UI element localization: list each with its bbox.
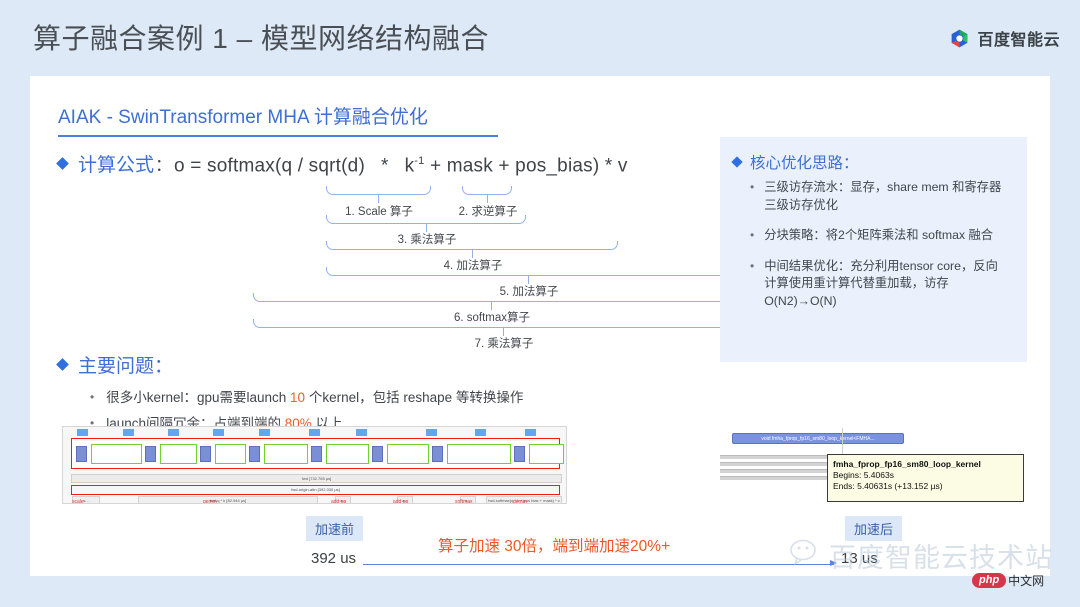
list-item: • 分块策略：将2个矩阵乘法和 softmax 融合 (750, 227, 1027, 245)
comparison-arrow-line (363, 564, 834, 565)
timeline-tick (168, 429, 179, 436)
content-card: AIAK - SwinTransformer MHA 计算融合优化 计算公式 ：… (30, 76, 1050, 576)
kernel-block (514, 446, 525, 462)
php-pill: php (972, 573, 1006, 588)
baidu-hexagon-icon (949, 28, 970, 49)
profiler-fwd-bar: fwd [732.765 µs] (71, 474, 562, 483)
formula-exponent: -1 (414, 155, 424, 167)
kernel-block (76, 446, 87, 462)
formula-part1: o = softmax(q / sqrt(d) (174, 155, 365, 176)
optimization-list: • 三级访存流水：显存，share mem 和寄存器三级访存优化 • 分块策略：… (750, 179, 1027, 310)
page-title: 算子融合案例 1 – 模型网络结构融合 (33, 17, 489, 57)
kernel-block (432, 446, 443, 462)
section-heading-rule (58, 135, 498, 137)
profiler-after-image: void fmha_fprop_fp16_sm80_loop_kernel<FM… (720, 428, 1032, 502)
launch-gap-box (91, 444, 142, 464)
profiler-before-image: fwd [732.765 µs] fwd-origin-attn [392.03… (62, 426, 567, 504)
kernel-block (249, 446, 260, 462)
launch-gap-box (447, 444, 511, 464)
formula-part3: + mask + pos_bias) * v (424, 155, 627, 176)
launch-gap-box (326, 444, 369, 464)
op-label-add-1: add op (331, 499, 346, 504)
launch-gap-box (387, 444, 429, 464)
tooltip-title: fmha_fprop_fp16_sm80_loop_kernel (833, 459, 1018, 469)
bullet-tick-icon: • (750, 258, 754, 311)
diamond-bullet-icon (56, 358, 69, 371)
launch-gap-box (529, 444, 564, 464)
badge-before: 加速前 (306, 516, 363, 541)
operator-label-7: 7. 乘法算子 (475, 335, 534, 351)
list-item: • 中间结果优化：充分利用tensor core，反向计算使用重计算代替重加载，… (750, 258, 1027, 311)
optimization-item-2: 分块策略：将2个矩阵乘法和 softmax 融合 (764, 227, 1002, 245)
optimization-item-1: 三级访存流水：显存，share mem 和寄存器三级访存优化 (764, 179, 1002, 214)
launch-gap-box (160, 444, 197, 464)
formula-row: 计算公式 ： o = softmax(q / sqrt(d)*k-1 + mas… (58, 150, 628, 177)
issue-item-1: 很多小kernel：gpu需要launch 10 个kernel，包括 resh… (106, 388, 523, 407)
slide-root: 算子融合案例 1 – 模型网络结构融合 百度智能云 AIAK - SwinTra… (0, 0, 1080, 607)
kernel-block (311, 446, 322, 462)
launch-gap-box (215, 444, 246, 464)
fused-kernel-bar: void fmha_fprop_fp16_sm80_loop_kernel<FM… (732, 433, 904, 444)
php-logo: php 中文网 (972, 572, 1044, 589)
php-logo-text: 中文网 (1008, 572, 1044, 589)
formula-expression: o = softmax(q / sqrt(d)*k-1 + mask + pos… (174, 155, 628, 177)
speedup-callout: 算子加速 30倍，端到端加速20%+ (438, 534, 670, 556)
wechat-icon (790, 539, 824, 572)
kernel-block (200, 446, 211, 462)
optimization-item-3: 中间结果优化：充分利用tensor core，反向计算使用重计算代替重加载，访存… (764, 258, 1002, 311)
issue-1-highlight: 10 (290, 390, 305, 405)
brand-logo: 百度智能云 (949, 26, 1060, 50)
timeline-tick (77, 429, 88, 436)
diamond-bullet-icon (56, 157, 69, 170)
launch-gap-box (264, 444, 308, 464)
issues-header: 主要问题： (58, 351, 523, 378)
op-label-scale: scale (72, 499, 84, 504)
formula-colon: ： (155, 151, 172, 176)
timeline-tick (356, 429, 367, 436)
timeline-tick (475, 429, 486, 436)
list-item: • 三级访存流水：显存，share mem 和寄存器三级访存优化 (750, 179, 1027, 214)
optimization-panel-title: 核心优化思路： (750, 151, 859, 173)
tooltip-begins: Begins: 5.4063s (833, 470, 1018, 480)
timeline-tick (309, 429, 320, 436)
timeline-tick (123, 429, 134, 436)
section-heading-text: AIAK - SwinTransformer MHA 计算融合优化 (58, 102, 498, 129)
bullet-tick-icon: • (750, 179, 754, 214)
diamond-bullet-icon (731, 156, 742, 167)
issue-1-post: 个kernel，包括 reshape 等转换操作 (305, 390, 523, 405)
brand-name: 百度智能云 (977, 26, 1060, 50)
op-label-gemm-1: gemm (203, 499, 217, 504)
bullet-tick-icon: • (750, 227, 754, 245)
watermark-text: 百度智能云技术站 (829, 536, 1053, 575)
optimization-panel: 核心优化思路： • 三级访存流水：显存，share mem 和寄存器三级访存优化… (720, 137, 1027, 362)
op-label-softmax: softmax (455, 499, 473, 504)
list-item: • 很多小kernel：gpu需要launch 10 个kernel，包括 re… (90, 388, 523, 407)
tooltip-ends: Ends: 5.40631s (+13.152 µs) (833, 481, 1018, 491)
profiler-highlight-box (71, 438, 560, 469)
formula-star: * (381, 155, 389, 176)
section-heading: AIAK - SwinTransformer MHA 计算融合优化 (58, 102, 498, 137)
op-label-add-2: add op (393, 499, 408, 504)
slide-header: 算子融合案例 1 – 模型网络结构融合 百度智能云 (0, 0, 1080, 75)
optimization-panel-header: 核心优化思路： (733, 151, 1027, 173)
issues-title: 主要问题： (78, 351, 173, 378)
timeline-tick (213, 429, 224, 436)
timeline-tick (426, 429, 437, 436)
kernel-block (372, 446, 383, 462)
kernel-block (145, 446, 156, 462)
timeline-tick (525, 429, 536, 436)
watermark: 百度智能云技术站 (790, 536, 1053, 575)
formula-part2: k (405, 155, 415, 176)
profiler-tick-row (63, 429, 566, 438)
issue-1-pre: 很多小kernel：gpu需要launch (106, 390, 290, 405)
bullet-tick-icon: • (90, 388, 94, 407)
op-label-gemm-2: gemm (513, 499, 527, 504)
timeline-tick (259, 429, 270, 436)
kernel-tooltip: fmha_fprop_fp16_sm80_loop_kernel Begins:… (827, 454, 1024, 502)
profiler-gemm-cell: fwd-q * k [82.944 µs] (138, 496, 318, 504)
profiler-attn-bar: fwd-origin-attn [392.030 µs] (71, 485, 560, 495)
value-before: 392 us (311, 550, 356, 567)
formula-label: 计算公式 (78, 150, 154, 177)
